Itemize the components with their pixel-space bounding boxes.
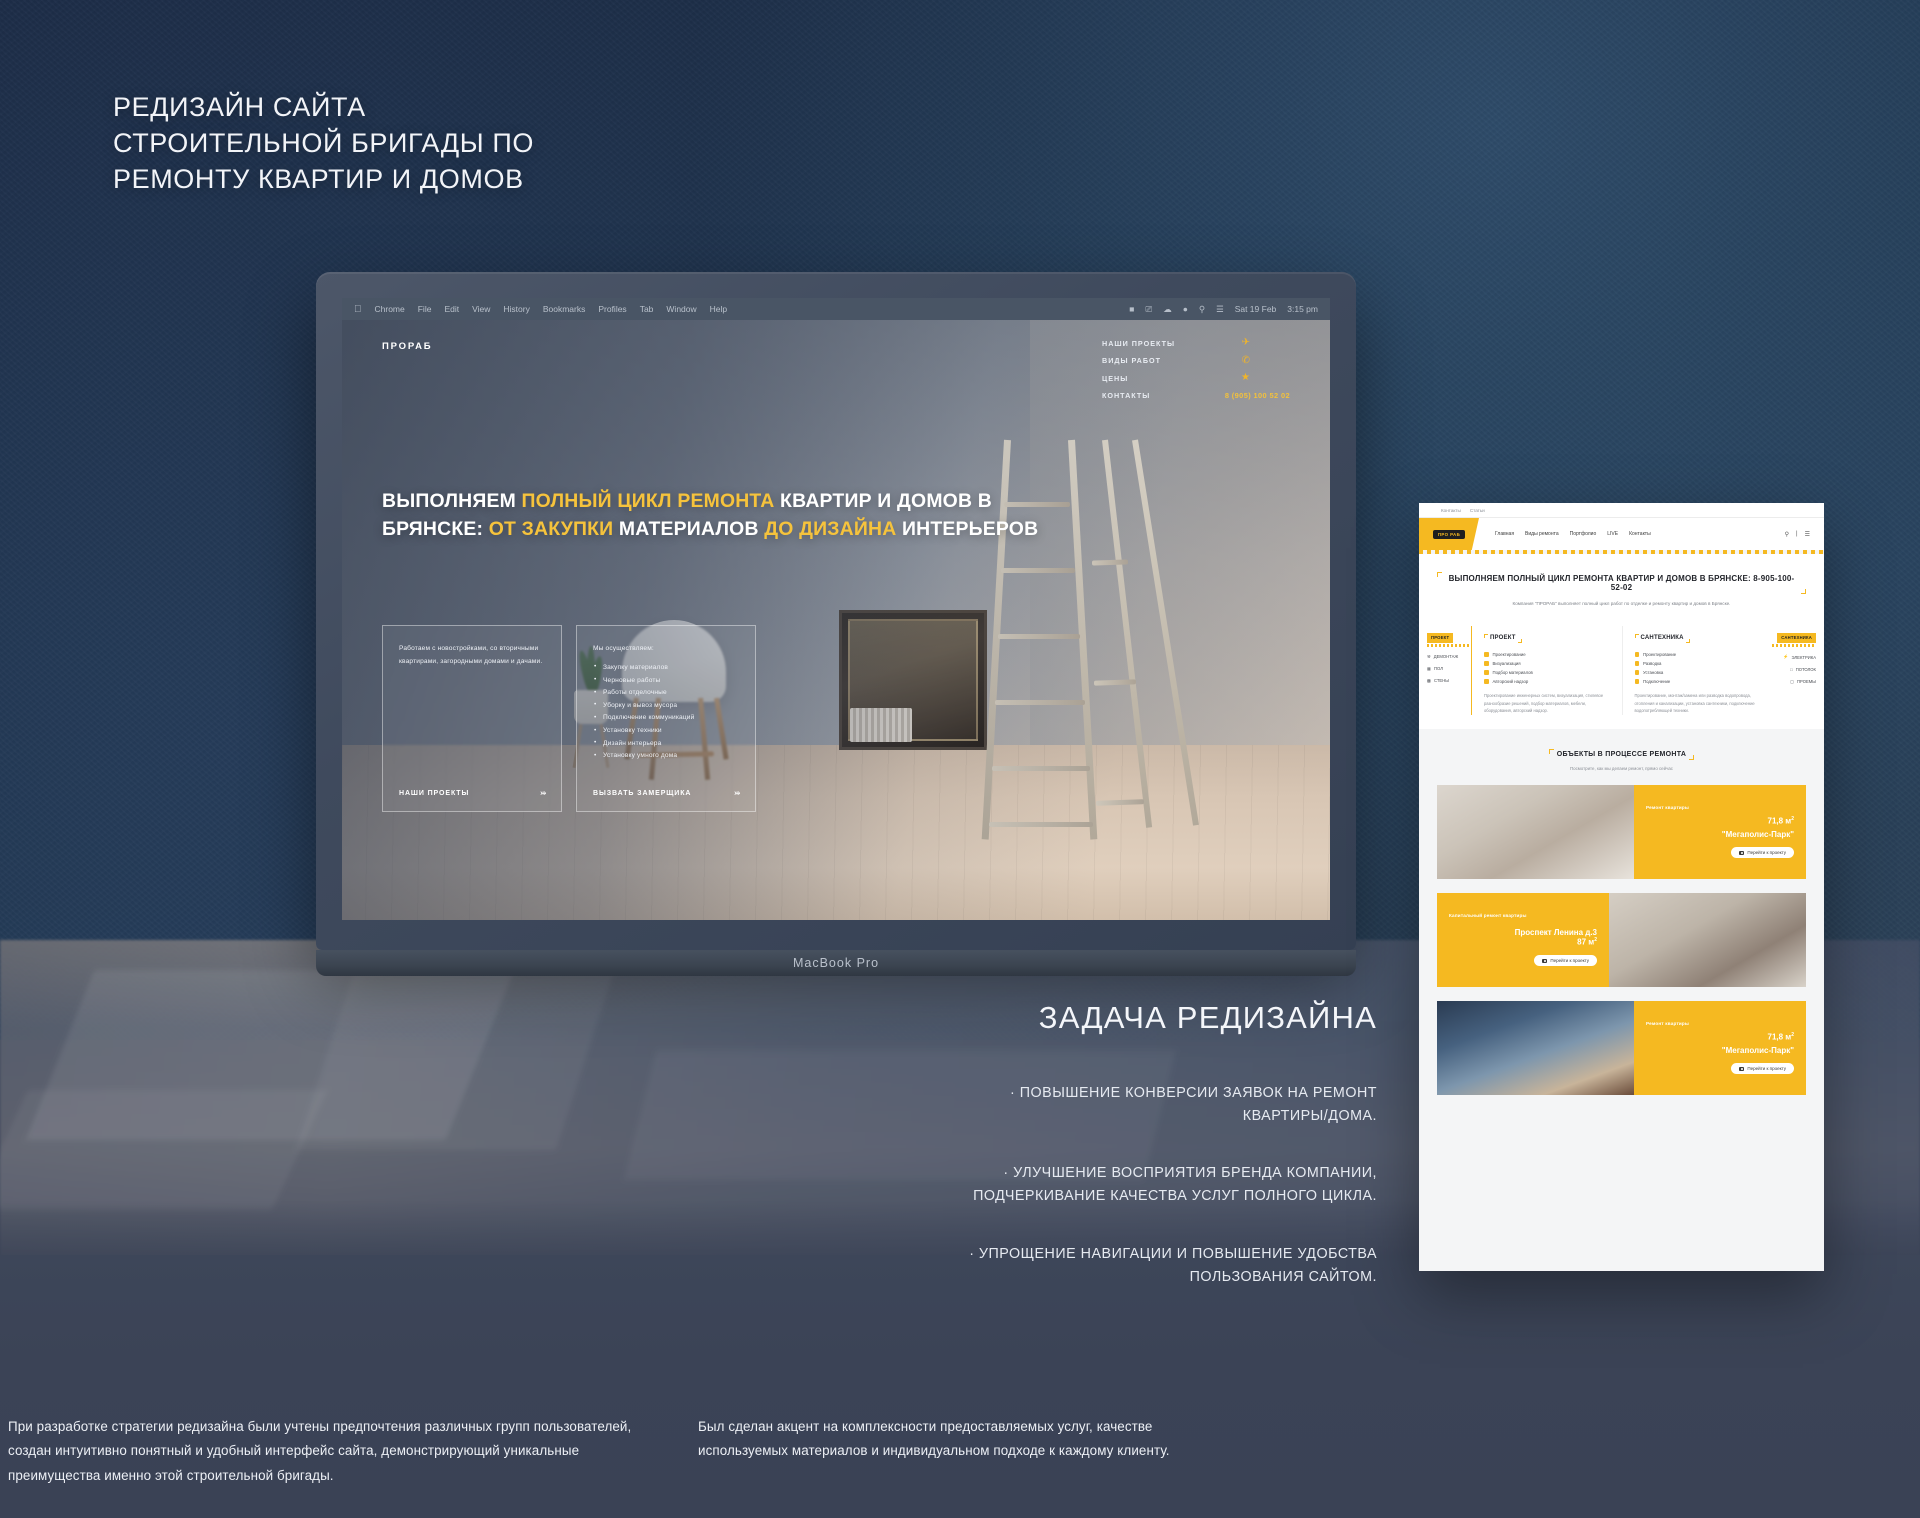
side-tab-dashes bbox=[1427, 644, 1471, 647]
list-item: Подбор материалов bbox=[1484, 670, 1610, 675]
check-icon bbox=[1635, 661, 1640, 666]
nav-row-works: ВИДЫ РАБОТ ✆ bbox=[1102, 356, 1250, 366]
project-link-label: Перейти к проекту bbox=[1747, 850, 1786, 855]
old-hero-subtitle: Компания "ПРОРАБ" выполняет полный цикл … bbox=[1437, 601, 1806, 606]
check-icon bbox=[1484, 661, 1489, 666]
nav-row-projects: НАШИ ПРОЕКТЫ ✈ bbox=[1102, 338, 1250, 348]
list-item: Работы отделочные bbox=[593, 687, 739, 700]
project-link-button[interactable]: Перейти к проекту bbox=[1731, 847, 1794, 858]
hero-card-scope-cta[interactable]: НАШИ ПРОЕКТЫ ⤔ bbox=[399, 790, 547, 797]
projects-section-subtitle: Посмотрите, как мы делаем ремонт, прямо … bbox=[1419, 766, 1824, 771]
list-item: Авторский надзор bbox=[1484, 679, 1610, 684]
footer-text: При разработке стратегии редизайна были … bbox=[0, 1415, 1920, 1488]
menubar-date: Sat 19 Feb bbox=[1235, 304, 1277, 314]
task-bullet-text: УПРОЩЕНИЕ НАВИГАЦИИ И ПОВЫШЕНИЕ УДОБСТВА… bbox=[979, 1246, 1377, 1285]
project-link-button[interactable]: Перейти к проекту bbox=[1731, 1063, 1794, 1074]
list-item: Разводка bbox=[1635, 661, 1761, 666]
search-icon[interactable]: ⚲ bbox=[1785, 531, 1789, 538]
control-center-icon[interactable]: ☰ bbox=[1216, 304, 1224, 315]
project-kicker: Ремонт квартиры bbox=[1646, 1021, 1794, 1026]
battery-icon[interactable]: ■ bbox=[1129, 304, 1134, 314]
old-site-hero: ВЫПОЛНЯЕМ ПОЛНЫЙ ЦИКЛ РЕМОНТА КВАРТИР И … bbox=[1419, 554, 1824, 620]
side-tab-dashes bbox=[1772, 644, 1816, 647]
project-name: "Мегаполис-Парк" bbox=[1646, 830, 1794, 839]
side-item-demolition[interactable]: ⚒ ДЕМОНТАЖ bbox=[1427, 654, 1471, 659]
list-item: · УЛУЧШЕНИЕ ВОСПРИЯТИЯ БРЕНДА КОМПАНИИ, … bbox=[957, 1162, 1377, 1208]
menu-item-history[interactable]: History bbox=[503, 304, 529, 314]
site-hero: ПРОРАБ НАШИ ПРОЕКТЫ ✈ ВИДЫ РАБОТ ✆ bbox=[342, 320, 1330, 920]
project-item[interactable]: Капитальный ремонт квартиры Проспект Лен… bbox=[1437, 893, 1806, 987]
phone-number[interactable]: 8 (905) 100 52 02 bbox=[1225, 391, 1290, 400]
screen-icon[interactable]: ⎚ bbox=[1145, 304, 1152, 315]
hero-card-scope-text: Работаем с новостройками, со вторичными … bbox=[399, 643, 545, 669]
arrow-down-right-icon: ⤔ bbox=[541, 792, 548, 797]
project-kicker: Капитальный ремонт квартиры bbox=[1449, 913, 1597, 918]
list-item: Уборку и вывоз мусора bbox=[593, 700, 739, 713]
nav-row-prices: ЦЕНЫ ★ bbox=[1102, 373, 1250, 383]
wifi-icon[interactable]: ● bbox=[1183, 304, 1188, 314]
list-item: Установку умного дома bbox=[593, 750, 739, 763]
side-item-label: ПРОЕМЫ bbox=[1797, 679, 1816, 684]
project-kicker: Ремонт квартиры bbox=[1646, 805, 1794, 810]
side-item-label: ЭЛЕКТРИКА bbox=[1792, 655, 1816, 660]
list-item: · ПОВЫШЕНИЕ КОНВЕРСИИ ЗАЯВОК НА РЕМОНТ К… bbox=[957, 1082, 1377, 1128]
topbar-link-articles[interactable]: Статьи bbox=[1470, 508, 1485, 513]
menu-item-window[interactable]: Window bbox=[666, 304, 696, 314]
nav-link-projects[interactable]: НАШИ ПРОЕКТЫ bbox=[1102, 339, 1175, 348]
bolt-icon: ⚡ bbox=[1783, 654, 1788, 660]
old-nav-portfolio[interactable]: Портфолио bbox=[1570, 531, 1597, 537]
menu-item-profiles[interactable]: Profiles bbox=[598, 304, 626, 314]
project-photo bbox=[1609, 893, 1806, 987]
headline-highlight-2: ОТ ЗАКУПКИ bbox=[489, 518, 614, 540]
services-column-plumbing: САНТЕХНИКА Проектирование Разводка Устан… bbox=[1622, 626, 1773, 715]
telegram-icon[interactable]: ✈ bbox=[1242, 338, 1250, 348]
check-icon bbox=[1635, 670, 1640, 675]
presentation-slide: РЕДИЗАЙН САЙТА СТРОИТЕЛЬНОЙ БРИГАДЫ ПО Р… bbox=[0, 0, 1920, 1518]
check-icon bbox=[1635, 652, 1640, 657]
project-link-button[interactable]: Перейти к проекту bbox=[1534, 955, 1597, 966]
project-area: 87 м2 bbox=[1449, 937, 1597, 947]
services-column-plumbing-title: САНТЕХНИКА bbox=[1635, 635, 1690, 641]
list-item: Установку техники bbox=[593, 725, 739, 738]
nav-row-contacts: КОНТАКТЫ 8 (905) 100 52 02 bbox=[1102, 391, 1290, 400]
menu-item-file[interactable]: File bbox=[418, 304, 432, 314]
services-side-left: ПРОЕКТ ⚒ ДЕМОНТАЖ ▦ ПОЛ ▩ СТЕНЫ bbox=[1419, 626, 1471, 715]
list-item: Визуализация bbox=[1484, 661, 1610, 666]
project-photo bbox=[1437, 785, 1634, 879]
menu-item-view[interactable]: View bbox=[472, 304, 490, 314]
projects-section-header: ОБЪЕКТЫ В ПРОЦЕССЕ РЕМОНТА Посмотрите, к… bbox=[1419, 729, 1824, 775]
slide-title-line-2: СТРОИТЕЛЬНОЙ БРИГАДЫ ПО bbox=[113, 126, 534, 162]
side-item-openings[interactable]: ▢ ПРОЕМЫ bbox=[1772, 679, 1816, 684]
list-item: Черновые работы bbox=[593, 675, 739, 688]
surveyor-cta-label: ВЫЗВАТЬ ЗАМЕРЩИКА bbox=[593, 790, 691, 797]
projects-cta-label: НАШИ ПРОЕКТЫ bbox=[399, 790, 469, 797]
task-bullet-text: ПОВЫШЕНИЕ КОНВЕРСИИ ЗАЯВОК НА РЕМОНТ КВА… bbox=[1020, 1085, 1377, 1124]
arrow-down-right-icon: ⤔ bbox=[735, 792, 742, 797]
mac-menu-bar:  Chrome File Edit View History Bookmark… bbox=[342, 298, 1330, 320]
old-site-logo-text: ПРО РАБ bbox=[1438, 532, 1460, 537]
old-nav-contacts[interactable]: Контакты bbox=[1629, 531, 1651, 537]
old-site-topbar: Контакты Статьи bbox=[1419, 503, 1824, 518]
nav-link-contacts[interactable]: КОНТАКТЫ bbox=[1102, 391, 1150, 400]
wall-icon: ▩ bbox=[1427, 678, 1431, 683]
project-name: Проспект Ленина д.3 bbox=[1449, 928, 1597, 937]
project-area-value: 71,8 м bbox=[1768, 817, 1792, 826]
side-tab-project[interactable]: ПРОЕКТ bbox=[1427, 633, 1453, 643]
project-info-card: Ремонт квартиры 71,8 м2 "Мегаполис-Парк"… bbox=[1634, 785, 1806, 879]
plumbing-description: Проектирование, монтаж/замена или развод… bbox=[1635, 692, 1761, 715]
task-bullet-list: · ПОВЫШЕНИЕ КОНВЕРСИИ ЗАЯВОК НА РЕМОНТ К… bbox=[957, 1082, 1377, 1289]
task-bullet-text: УЛУЧШЕНИЕ ВОСПРИЯТИЯ БРЕНДА КОМПАНИИ, ПО… bbox=[973, 1165, 1377, 1204]
list-item: Установка bbox=[1635, 670, 1761, 675]
column-title-text: ПРОЕКТ bbox=[1490, 635, 1516, 641]
site-navigation: ПРОРАБ НАШИ ПРОЕКТЫ ✈ ВИДЫ РАБОТ ✆ bbox=[342, 338, 1330, 430]
list-item: Проектирование bbox=[1635, 652, 1761, 657]
project-area-sup: 2 bbox=[1594, 937, 1597, 943]
services-column-project-title: ПРОЕКТ bbox=[1484, 635, 1522, 641]
check-icon bbox=[1484, 652, 1489, 657]
services-column-project: ПРОЕКТ Проектирование Визуализация Подбо… bbox=[1471, 626, 1622, 715]
cloud-icon[interactable]: ☁ bbox=[1163, 304, 1172, 315]
headline-part-3: МАТЕРИАЛОВ bbox=[613, 518, 764, 540]
side-tab-plumbing[interactable]: САНТЕХНИКА bbox=[1777, 633, 1816, 643]
side-item-label: СТЕНЫ bbox=[1434, 678, 1449, 683]
site-logo[interactable]: ПРОРАБ bbox=[382, 338, 432, 430]
slide-title-line-1: РЕДИЗАЙН САЙТА bbox=[113, 90, 534, 126]
camera-icon bbox=[1739, 1067, 1744, 1071]
hero-cards: Работаем с новостройками, со вторичными … bbox=[382, 625, 756, 812]
menu-item-edit[interactable]: Edit bbox=[444, 304, 459, 314]
old-site-logo[interactable]: ПРО РАБ bbox=[1433, 530, 1465, 539]
camera-icon bbox=[1739, 851, 1744, 855]
project-photo bbox=[1437, 1001, 1634, 1095]
headline-highlight-1: ПОЛНЫЙ ЦИКЛ РЕМОНТА bbox=[522, 490, 775, 512]
menu-item-bookmarks[interactable]: Bookmarks bbox=[543, 304, 586, 314]
old-hero-title: ВЫПОЛНЯЕМ ПОЛНЫЙ ЦИКЛ РЕМОНТА КВАРТИР И … bbox=[1437, 574, 1806, 592]
headline-part-1: ВЫПОЛНЯЕМ bbox=[382, 490, 522, 512]
door-icon: ▢ bbox=[1790, 679, 1794, 684]
footer-paragraph-2: Был сделан акцент на комплексности предо… bbox=[698, 1415, 1178, 1488]
side-item-ceiling[interactable]: □ ПОТОЛОК bbox=[1772, 667, 1816, 672]
side-item-floor[interactable]: ▦ ПОЛ bbox=[1427, 666, 1471, 671]
old-logo-block: ПРО РАБ bbox=[1419, 518, 1479, 550]
project-area-sup: 2 bbox=[1791, 1032, 1794, 1038]
laptop-mockup:  Chrome File Edit View History Bookmark… bbox=[316, 272, 1356, 972]
task-section: ЗАДАЧА РЕДИЗАЙНА · ПОВЫШЕНИЕ КОНВЕРСИИ З… bbox=[957, 1000, 1377, 1323]
side-item-electrics[interactable]: ⚡ ЭЛЕКТРИКА bbox=[1772, 654, 1816, 660]
menu-item-chrome[interactable]: Chrome bbox=[375, 304, 405, 314]
hero-card-services: Мы осуществляем: Закупку материалов Черн… bbox=[576, 625, 756, 812]
old-site-nav: Главная Виды ремонта Портфолио LIVE Конт… bbox=[1495, 531, 1651, 537]
nav-link-prices[interactable]: ЦЕНЫ bbox=[1102, 374, 1128, 383]
project-area-value: 71,8 м bbox=[1768, 1033, 1792, 1042]
old-header-actions: ⚲ | ☰ bbox=[1785, 531, 1810, 538]
old-hero-title-text: ВЫПОЛНЯЕМ ПОЛНЫЙ ЦИКЛ РЕМОНТА КВАРТИР И … bbox=[1449, 574, 1795, 592]
nav-links-group: НАШИ ПРОЕКТЫ ✈ ВИДЫ РАБОТ ✆ ЦЕНЫ ★ bbox=[1102, 338, 1290, 430]
hammer-icon: ⚒ bbox=[1427, 654, 1431, 659]
side-item-label: ПОТОЛОК bbox=[1796, 667, 1816, 672]
check-icon bbox=[1484, 679, 1489, 684]
slide-title-line-3: РЕМОНТУ КВАРТИР И ДОМОВ bbox=[113, 162, 534, 198]
old-site-mockup: Контакты Статьи ПРО РАБ Главная Виды рем… bbox=[1419, 503, 1824, 1271]
topbar-link-contacts[interactable]: Контакты bbox=[1441, 508, 1461, 513]
slide-title: РЕДИЗАЙН САЙТА СТРОИТЕЛЬНОЙ БРИГАДЫ ПО Р… bbox=[113, 90, 534, 198]
projects-list: Ремонт квартиры 71,8 м2 "Мегаполис-Парк"… bbox=[1419, 775, 1824, 1111]
side-item-label: ПОЛ bbox=[1434, 666, 1443, 671]
vk-icon[interactable]: ★ bbox=[1241, 373, 1250, 383]
footer-paragraph-1: При разработке стратегии редизайна были … bbox=[8, 1415, 668, 1488]
floor-icon: ▦ bbox=[1427, 666, 1431, 671]
hero-card-services-cta[interactable]: ВЫЗВАТЬ ЗАМЕРЩИКА ⤔ bbox=[593, 790, 741, 797]
menu-icon[interactable]: ☰ bbox=[1805, 531, 1810, 538]
hero-headline: ВЫПОЛНЯЕМ ПОЛНЫЙ ЦИКЛ РЕМОНТА КВАРТИР И … bbox=[382, 488, 1042, 543]
list-item: Подключение bbox=[1635, 679, 1761, 684]
project-info-card: Ремонт квартиры 71,8 м2 "Мегаполис-Парк"… bbox=[1634, 1001, 1806, 1095]
check-icon bbox=[1635, 679, 1640, 684]
list-item: · УПРОЩЕНИЕ НАВИГАЦИИ И ПОВЫШЕНИЕ УДОБСТ… bbox=[957, 1243, 1377, 1289]
nav-link-works[interactable]: ВИДЫ РАБОТ bbox=[1102, 356, 1161, 365]
camera-icon bbox=[1542, 959, 1547, 963]
headline-highlight-3: ДО ДИЗАЙНА bbox=[764, 518, 896, 540]
services-list: Закупку материалов Черновые работы Работ… bbox=[593, 662, 739, 763]
side-item-label: ДЕМОНТАЖ bbox=[1434, 654, 1458, 659]
project-link-label: Перейти к проекту bbox=[1747, 1066, 1786, 1071]
side-item-walls[interactable]: ▩ СТЕНЫ bbox=[1427, 678, 1471, 683]
project-item[interactable]: Ремонт квартиры 71,8 м2 "Мегаполис-Парк"… bbox=[1437, 1001, 1806, 1095]
old-site-header: ПРО РАБ Главная Виды ремонта Портфолио L… bbox=[1419, 518, 1824, 550]
project-area-value: 87 м bbox=[1577, 938, 1594, 947]
menu-status-area: ■ ⎚ ☁ ● ⚲ ☰ Sat 19 Feb 3:15 pm bbox=[1129, 304, 1318, 315]
whatsapp-icon[interactable]: ✆ bbox=[1242, 356, 1250, 366]
plumbing-feature-list: Проектирование Разводка Установка Подклю… bbox=[1635, 652, 1761, 684]
menubar-time: 3:15 pm bbox=[1287, 304, 1318, 314]
project-area: 71,8 м2 bbox=[1646, 1032, 1794, 1042]
old-nav-live[interactable]: LIVE bbox=[1607, 531, 1618, 537]
old-nav-repair-types[interactable]: Виды ремонта bbox=[1525, 531, 1559, 537]
project-area: 71,8 м2 bbox=[1646, 816, 1794, 826]
list-item: Проектирование bbox=[1484, 652, 1610, 657]
projects-section-title: ОБЪЕКТЫ В ПРОЦЕССЕ РЕМОНТА bbox=[1549, 751, 1694, 758]
laptop-screen:  Chrome File Edit View History Bookmark… bbox=[342, 298, 1330, 920]
services-side-right: САНТЕХНИКА ⚡ ЭЛЕКТРИКА □ ПОТОЛОК ▢ ПРОЕМ… bbox=[1772, 626, 1824, 715]
check-icon bbox=[1484, 670, 1489, 675]
project-name: "Мегаполис-Парк" bbox=[1646, 1046, 1794, 1055]
list-item: Дизайн интерьера bbox=[593, 738, 739, 751]
services-lead: Мы осуществляем: bbox=[593, 643, 739, 656]
menu-item-help[interactable]: Help bbox=[710, 304, 727, 314]
project-info-card: Капитальный ремонт квартиры Проспект Лен… bbox=[1437, 893, 1609, 987]
column-title-text: САНТЕХНИКА bbox=[1641, 635, 1684, 641]
hero-card-scope: Работаем с новостройками, со вторичными … bbox=[382, 625, 562, 812]
list-item: Закупку материалов bbox=[593, 662, 739, 675]
headline-part-4: ИНТЕРЬЕРОВ bbox=[896, 518, 1038, 540]
laptop-model-label: MacBook Pro bbox=[316, 950, 1356, 976]
project-area-sup: 2 bbox=[1791, 816, 1794, 822]
old-services-block: ПРОЕКТ ⚒ ДЕМОНТАЖ ▦ ПОЛ ▩ СТЕНЫ bbox=[1419, 620, 1824, 729]
laptop-body:  Chrome File Edit View History Bookmark… bbox=[316, 272, 1356, 950]
project-description: Проектирование инженерных систем, визуал… bbox=[1484, 692, 1610, 715]
menu-item-tab[interactable]: Tab bbox=[640, 304, 654, 314]
search-icon[interactable]: ⚲ bbox=[1199, 304, 1205, 315]
divider: | bbox=[1796, 531, 1798, 537]
list-item: Подключение коммуникаций bbox=[593, 712, 739, 725]
ceiling-icon: □ bbox=[1790, 667, 1793, 672]
project-link-label: Перейти к проекту bbox=[1550, 958, 1589, 963]
apple-logo-icon[interactable]:  bbox=[354, 304, 362, 315]
old-nav-home[interactable]: Главная bbox=[1495, 531, 1514, 537]
project-feature-list: Проектирование Визуализация Подбор матер… bbox=[1484, 652, 1610, 684]
project-item[interactable]: Ремонт квартиры 71,8 м2 "Мегаполис-Парк"… bbox=[1437, 785, 1806, 879]
task-heading: ЗАДАЧА РЕДИЗАЙНА bbox=[957, 1000, 1377, 1036]
projects-title-text: ОБЪЕКТЫ В ПРОЦЕССЕ РЕМОНТА bbox=[1557, 751, 1686, 758]
